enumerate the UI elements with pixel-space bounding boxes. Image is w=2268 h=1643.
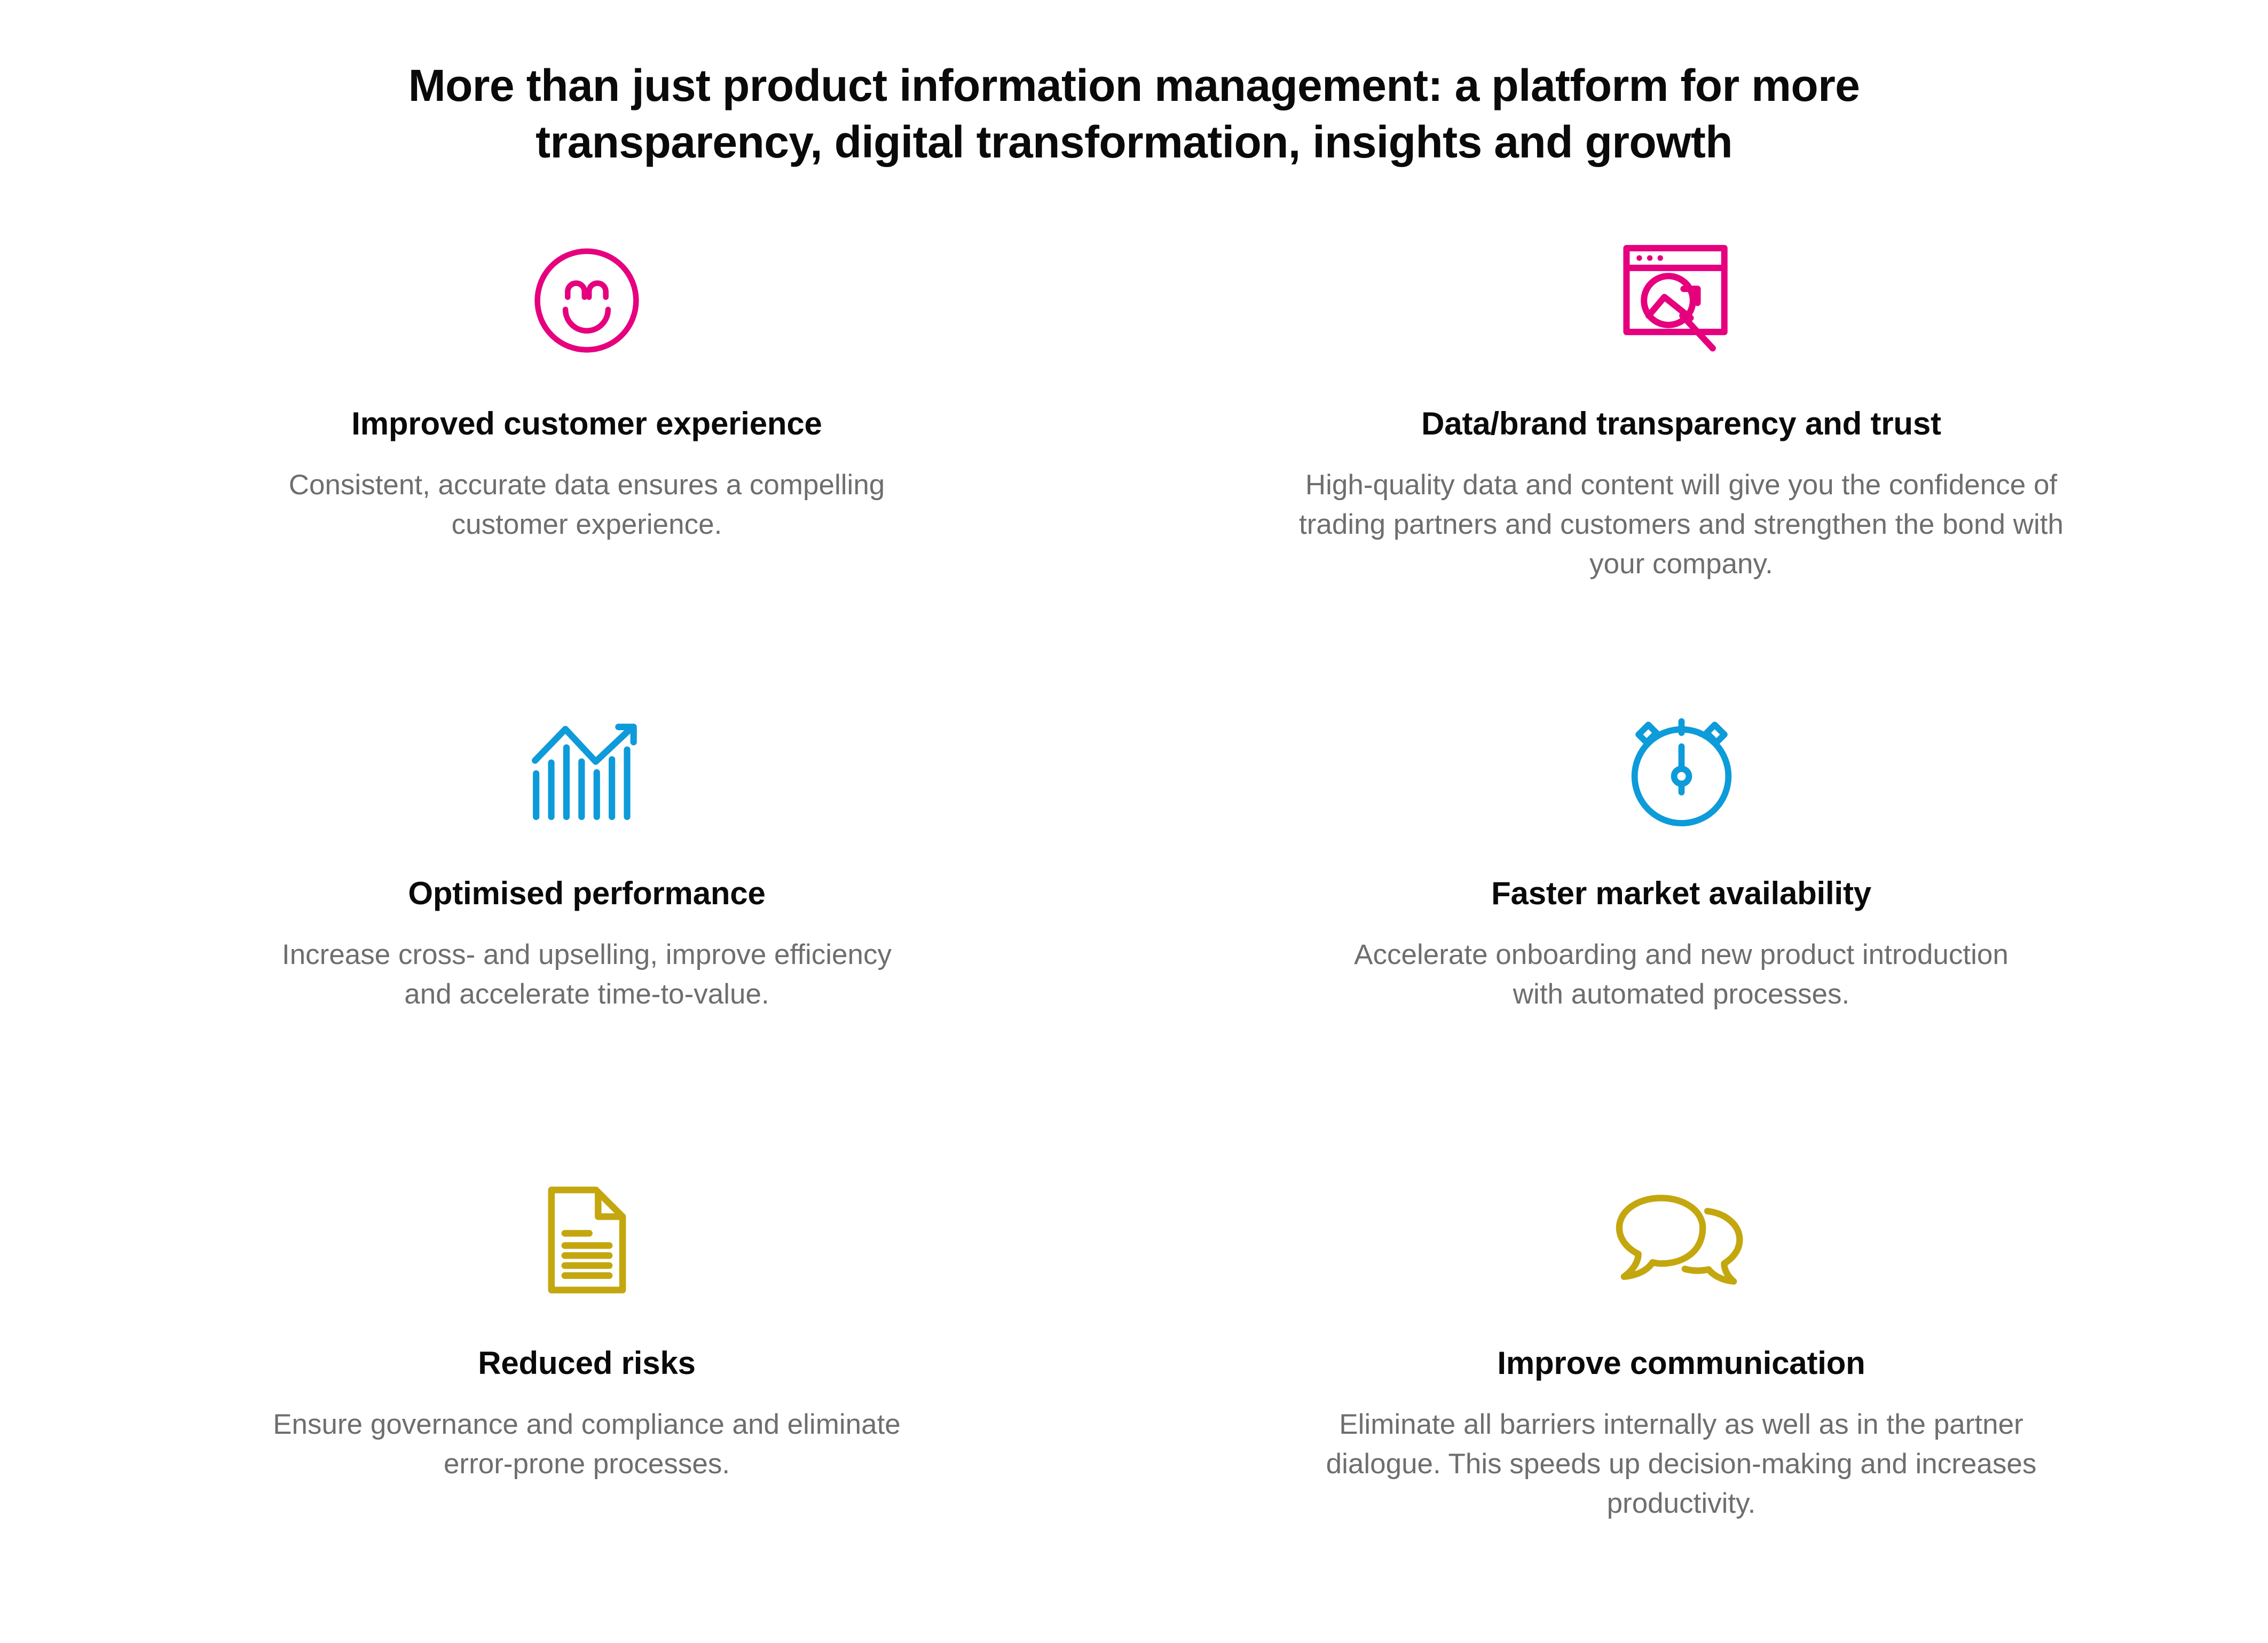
benefit-title: Faster market availability xyxy=(1491,874,1871,913)
bar-chart-growth-icon xyxy=(530,704,644,837)
benefit-card-improve-communication: Improve communication Eliminate all barr… xyxy=(1134,1173,2228,1643)
smiley-face-icon xyxy=(531,234,643,367)
benefit-card-reduced-risks: Reduced risks Ensure governance and comp… xyxy=(40,1173,1134,1643)
stopwatch-icon xyxy=(1624,704,1739,837)
benefit-title: Improved customer experience xyxy=(351,405,822,443)
benefit-card-faster-market-availability: Faster market availability Accelerate on… xyxy=(1134,704,2228,1173)
benefit-title: Reduced risks xyxy=(478,1344,696,1383)
page-title-line-2: transparency, digital transformation, in… xyxy=(306,114,1962,171)
benefit-description: High-quality data and content will give … xyxy=(1273,465,2090,584)
benefit-card-data-brand-transparency: Data/brand transparency and trust High-q… xyxy=(1134,234,2228,704)
benefit-description: Eliminate all barriers internally as wel… xyxy=(1278,1405,2084,1524)
benefit-description: Consistent, accurate data ensures a comp… xyxy=(285,465,888,544)
benefits-grid: Improved customer experience Consistent,… xyxy=(40,171,2228,1643)
benefit-description: Ensure governance and compliance and eli… xyxy=(258,1405,915,1484)
benefit-card-optimised-performance: Optimised performance Increase cross- an… xyxy=(40,704,1134,1173)
benefit-title: Improve communication xyxy=(1497,1344,1865,1383)
browser-analytics-search-icon xyxy=(1617,234,1745,367)
benefit-description: Accelerate onboarding and new product in… xyxy=(1345,935,2018,1014)
document-lines-icon xyxy=(540,1173,634,1307)
benefit-title: Optimised performance xyxy=(408,874,765,913)
page-title-line-1: More than just product information manag… xyxy=(306,58,1962,114)
benefit-title: Data/brand transparency and trust xyxy=(1421,405,1941,443)
page-title: More than just product information manag… xyxy=(306,0,1962,171)
speech-bubbles-icon xyxy=(1615,1173,1748,1307)
benefits-overview-page: More than just product information manag… xyxy=(0,0,2268,1612)
benefit-card-improved-customer-experience: Improved customer experience Consistent,… xyxy=(40,234,1134,704)
benefit-description: Increase cross- and upselling, improve e… xyxy=(256,935,918,1014)
